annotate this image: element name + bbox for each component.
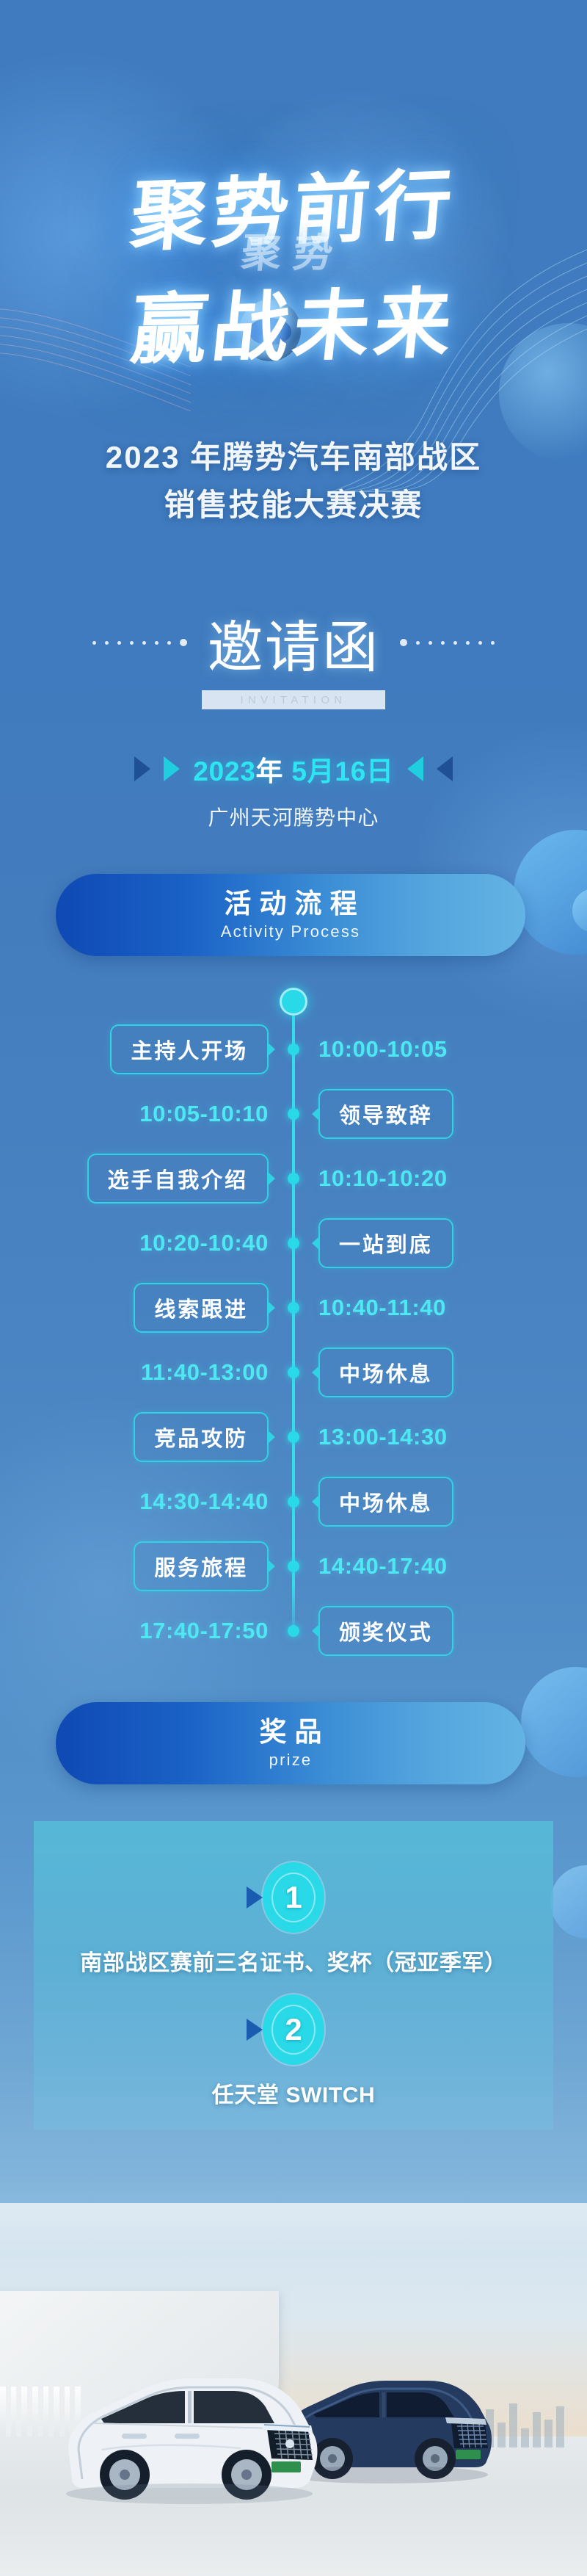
timeline-time: 14:40-17:40: [318, 1553, 448, 1580]
timeline-dot: [288, 1431, 299, 1443]
timeline-cell-right: 10:10-10:20: [293, 1165, 587, 1192]
timeline-time: 10:10-10:20: [318, 1165, 448, 1192]
car-photo: [0, 2203, 587, 2576]
timeline-time: 17:40-17:50: [139, 1618, 269, 1644]
timeline-cell-right: 中场休息: [293, 1347, 587, 1397]
timeline-dot: [288, 1496, 299, 1508]
title-ghost-text: 聚势: [0, 220, 587, 278]
timeline-dot: [288, 1367, 299, 1378]
dots-left: [92, 639, 187, 646]
subtitle-line-1: 2023 年腾势汽车南部战区: [0, 433, 587, 481]
photo-top-fade: [0, 2203, 587, 2254]
timeline-label: 领导致辞: [318, 1089, 453, 1139]
timeline-start-marker: [280, 988, 307, 1016]
event-date-year: 2023: [193, 756, 255, 786]
timeline-row: 11:40-13:00中场休息: [0, 1340, 587, 1405]
photo-ground-reflection: [0, 2495, 587, 2576]
timeline-time: 10:05-10:10: [139, 1101, 269, 1127]
timeline-row: 线索跟进10:40-11:40: [0, 1276, 587, 1340]
section-banner-process-en: Activity Process: [221, 922, 360, 941]
prize-badge: 2: [263, 1994, 324, 2065]
invitation-word: 邀请函: [194, 602, 393, 683]
timeline-dot: [288, 1173, 299, 1184]
timeline-row: 10:05-10:10领导致辞: [0, 1082, 587, 1146]
decorative-circle-3: [521, 1667, 587, 1777]
dots-right: [400, 639, 495, 646]
title-line-2: 赢战未来: [0, 281, 587, 373]
event-date-monthday: 5月16日: [291, 756, 393, 786]
event-place: 广州天河腾势中心: [0, 802, 587, 831]
timeline-row: 服务旅程14:40-17:40: [0, 1534, 587, 1599]
triangle-right-cyan-icon: [164, 756, 180, 781]
section-banner-process-cn: 活动流程: [216, 889, 365, 920]
timeline-cell-right: 颁奖仪式: [293, 1606, 587, 1656]
timeline-cell-left: 选手自我介绍: [0, 1154, 293, 1204]
timeline-cell-left: 14:30-14:40: [0, 1488, 293, 1515]
prize-item: 2任天堂 SWITCH: [34, 1994, 553, 2109]
timeline-time: 14:30-14:40: [139, 1488, 269, 1515]
event-date-year-suffix: 年: [256, 756, 284, 786]
timeline-cell-right: 14:40-17:40: [293, 1553, 587, 1580]
prize-description: 任天堂 SWITCH: [34, 2077, 553, 2109]
event-date: 2023年 5月16日: [193, 749, 394, 789]
timeline-row: 17:40-17:50颁奖仪式: [0, 1599, 587, 1663]
decorative-circle-2: [572, 889, 587, 933]
timeline-cell-right: 10:00-10:05: [293, 1036, 587, 1063]
prize-description: 南部战区赛前三名证书、奖杯（冠亚季军）: [34, 1944, 553, 1977]
timeline-label: 服务旅程: [134, 1541, 269, 1591]
timeline-cell-left: 17:40-17:50: [0, 1618, 293, 1644]
timeline-cell-right: 13:00-14:30: [293, 1424, 587, 1450]
timeline-label: 线索跟进: [134, 1283, 269, 1333]
prize-panel: 1南部战区赛前三名证书、奖杯（冠亚季军）2任天堂 SWITCH: [34, 1821, 553, 2130]
timeline-row: 14:30-14:40中场休息: [0, 1469, 587, 1534]
timeline-time: 13:00-14:30: [318, 1424, 448, 1450]
invitation-poster: 聚势前行 聚势 赢战未来 2023 年腾势汽车南部战区 销售技能大赛决赛 邀请函…: [0, 0, 587, 2576]
timeline-cell-left: 线索跟进: [0, 1283, 293, 1333]
subtitle: 2023 年腾势汽车南部战区 销售技能大赛决赛: [0, 433, 587, 529]
timeline-cell-left: 10:05-10:10: [0, 1101, 293, 1127]
timeline-label: 中场休息: [318, 1347, 453, 1397]
hero-section: 聚势前行 聚势 赢战未来 2023 年腾势汽车南部战区 销售技能大赛决赛: [0, 0, 587, 844]
decorative-circle-1: [514, 830, 587, 955]
prize-number: 2: [285, 2012, 302, 2047]
subtitle-line-2: 销售技能大赛决赛: [0, 481, 587, 529]
timeline-cell-right: 领导致辞: [293, 1089, 587, 1139]
prize-number: 1: [285, 1880, 302, 1915]
timeline-cell-left: 竞品攻防: [0, 1412, 293, 1462]
timeline-dot: [288, 1625, 299, 1637]
prize-item: 1南部战区赛前三名证书、奖杯（冠亚季军）: [34, 1862, 553, 1977]
triangle-left-dark-icon: [437, 756, 453, 781]
timeline-time: 10:40-11:40: [318, 1295, 446, 1321]
timeline-row: 选手自我介绍10:10-10:20: [0, 1146, 587, 1211]
timeline-label: 选手自我介绍: [87, 1154, 269, 1204]
timeline-label: 一站到底: [318, 1218, 453, 1268]
timeline-time: 10:00-10:05: [318, 1036, 448, 1063]
timeline-dot: [288, 1043, 299, 1055]
timeline-time: 11:40-13:00: [141, 1359, 269, 1386]
invitation-en-label: INVITATION: [241, 694, 347, 706]
timeline-row: 竞品攻防13:00-14:30: [0, 1405, 587, 1469]
timeline-dot: [288, 1302, 299, 1314]
car-white: [57, 2372, 321, 2511]
timeline-row: 10:20-10:40一站到底: [0, 1211, 587, 1276]
invitation-block: 邀请函 INVITATION: [0, 602, 587, 709]
timeline-cell-right: 一站到底: [293, 1218, 587, 1268]
timeline-label: 竞品攻防: [134, 1412, 269, 1462]
section-banner-prize-cn: 奖品: [251, 1717, 329, 1748]
timeline-label: 颁奖仪式: [318, 1606, 453, 1656]
invitation-en-bar: INVITATION: [202, 690, 385, 709]
timeline-row: 主持人开场10:00-10:05: [0, 1017, 587, 1082]
section-banner-process: 活动流程 Activity Process: [56, 874, 525, 956]
timeline-dot: [288, 1237, 299, 1249]
activity-timeline: 主持人开场10:00-10:0510:05-10:10领导致辞选手自我介绍10:…: [0, 995, 587, 1641]
timeline-cell-left: 主持人开场: [0, 1024, 293, 1074]
timeline-cell-left: 服务旅程: [0, 1541, 293, 1591]
timeline-label: 中场休息: [318, 1477, 453, 1527]
triangle-right-icon: [247, 1886, 263, 1909]
triangle-right-icon: [247, 2019, 263, 2041]
section-banner-prize: 奖品 prize: [56, 1702, 525, 1784]
timeline-cell-right: 10:40-11:40: [293, 1295, 587, 1321]
triangle-left-cyan-icon: [407, 756, 423, 781]
section-banner-prize-en: prize: [269, 1751, 313, 1770]
timeline-cell-left: 10:20-10:40: [0, 1230, 293, 1256]
triangle-right-dark-icon: [134, 756, 150, 781]
event-datetime-block: 2023年 5月16日 广州天河腾势中心: [0, 749, 587, 831]
timeline-dot: [288, 1108, 299, 1120]
timeline-cell-left: 11:40-13:00: [0, 1359, 293, 1386]
timeline-cell-right: 中场休息: [293, 1477, 587, 1527]
prize-badge: 1: [263, 1862, 324, 1933]
timeline-label: 主持人开场: [110, 1024, 269, 1074]
decorative-circle-4: [550, 1865, 587, 1939]
timeline-dot: [288, 1560, 299, 1572]
timeline-time: 10:20-10:40: [139, 1230, 269, 1256]
